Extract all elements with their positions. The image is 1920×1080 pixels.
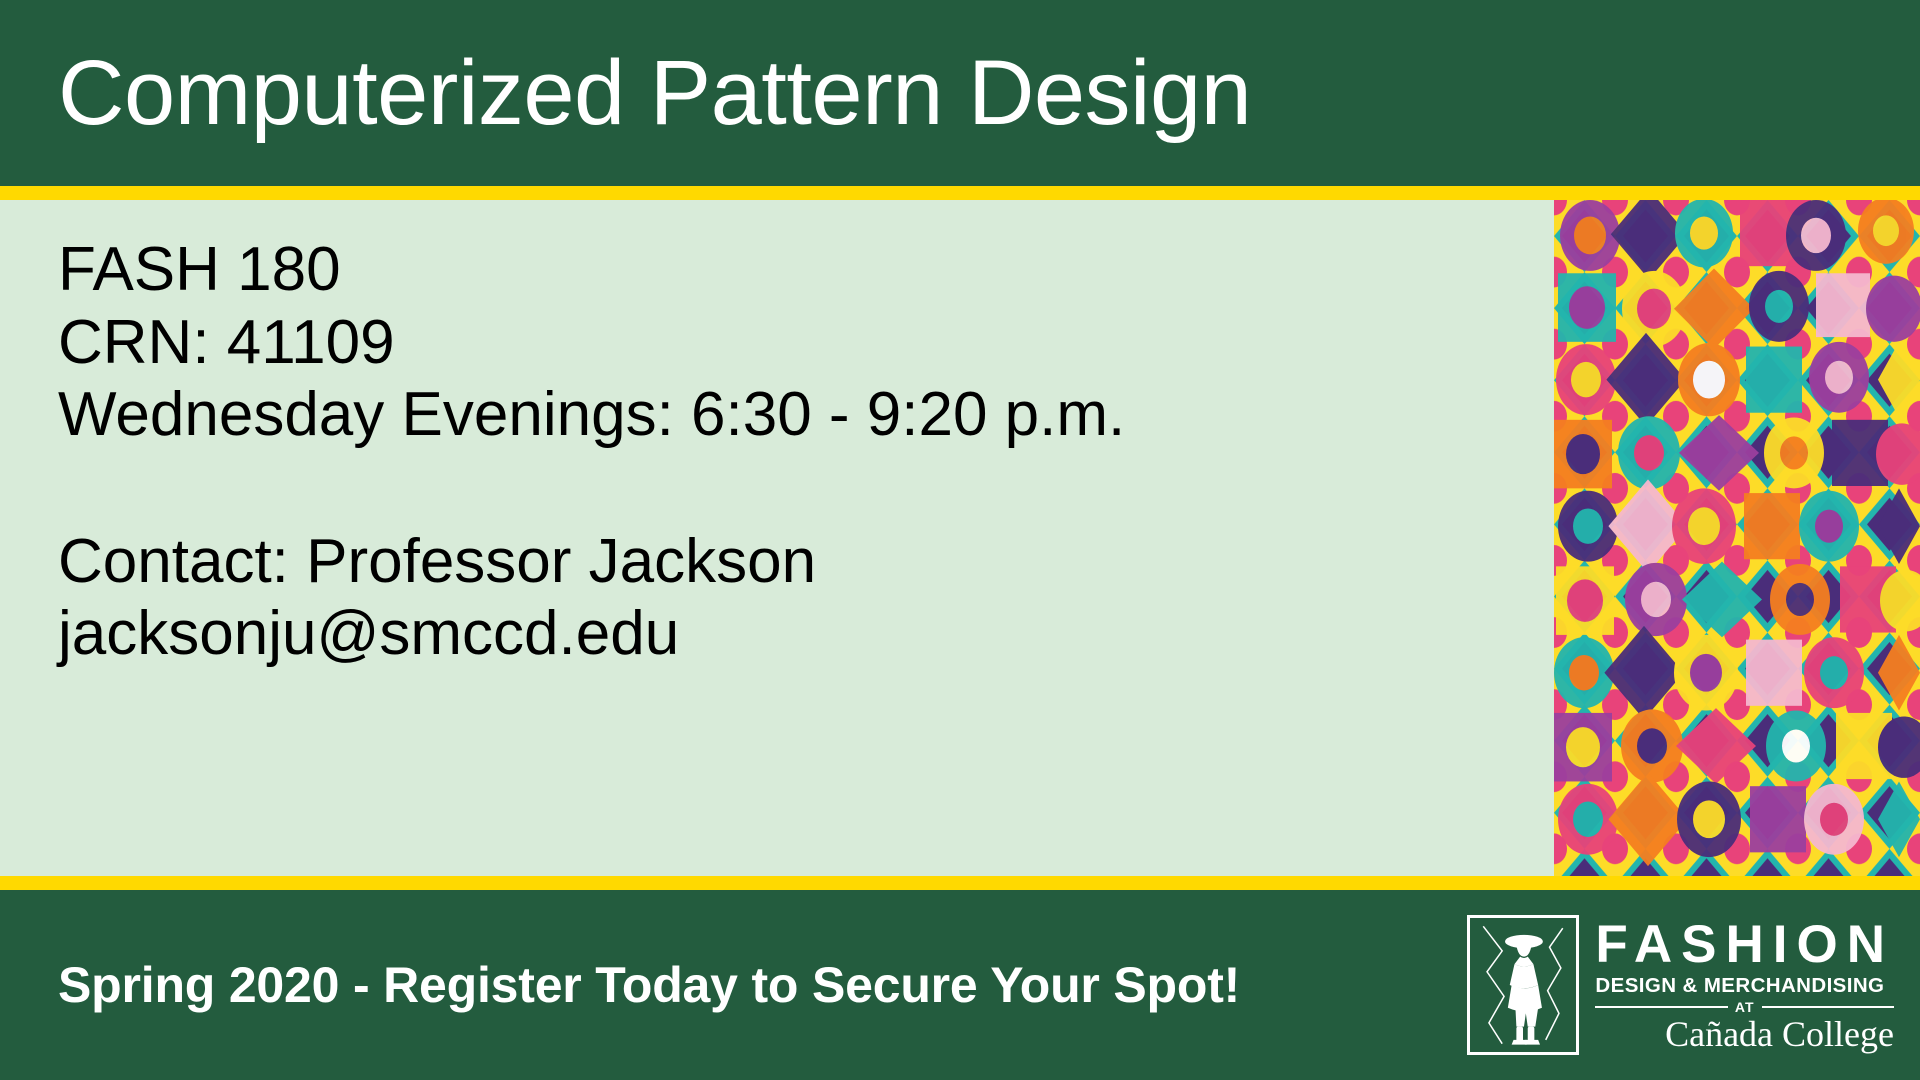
- logo-fashion-text: FASHION: [1595, 918, 1894, 971]
- logo-rule-right: [1762, 1006, 1894, 1008]
- logo-design-merchandising-text: DESIGN & MERCHANDISING: [1595, 976, 1894, 997]
- logo-rule-left: [1595, 1006, 1727, 1008]
- course-schedule: Wednesday Evenings: 6:30 - 9:20 p.m.: [58, 379, 1554, 452]
- fashion-figure-icon: [1467, 915, 1579, 1055]
- logo-at-text: AT: [1728, 1000, 1762, 1014]
- course-code: FASH 180: [58, 234, 1554, 307]
- spacer: [58, 452, 1554, 526]
- course-crn: CRN: 41109: [58, 307, 1554, 380]
- logo-wordmark: FASHION DESIGN & MERCHANDISING AT Cañada…: [1595, 918, 1894, 1052]
- flyer-footer: Spring 2020 - Register Today to Secure Y…: [0, 890, 1920, 1080]
- flyer-body: FASH 180 CRN: 41109 Wednesday Evenings: …: [0, 200, 1920, 876]
- geometric-pattern-image: [1554, 200, 1920, 876]
- contact-email[interactable]: jacksonju@smccd.edu: [58, 598, 1554, 671]
- top-accent-rule: [0, 186, 1920, 200]
- flyer-header: Computerized Pattern Design: [0, 0, 1920, 186]
- page-title: Computerized Pattern Design: [0, 47, 1251, 139]
- course-flyer: Computerized Pattern Design FASH 180 CRN…: [0, 0, 1920, 1080]
- canada-college-fashion-logo: FASHION DESIGN & MERCHANDISING AT Cañada…: [1467, 911, 1894, 1059]
- course-details: FASH 180 CRN: 41109 Wednesday Evenings: …: [0, 200, 1554, 876]
- logo-college-text: Cañada College: [1595, 1016, 1894, 1052]
- call-to-action: Spring 2020 - Register Today to Secure Y…: [58, 956, 1240, 1014]
- logo-at-divider: AT: [1595, 1000, 1894, 1014]
- bottom-accent-rule: [0, 876, 1920, 890]
- contact-name: Contact: Professor Jackson: [58, 526, 1554, 599]
